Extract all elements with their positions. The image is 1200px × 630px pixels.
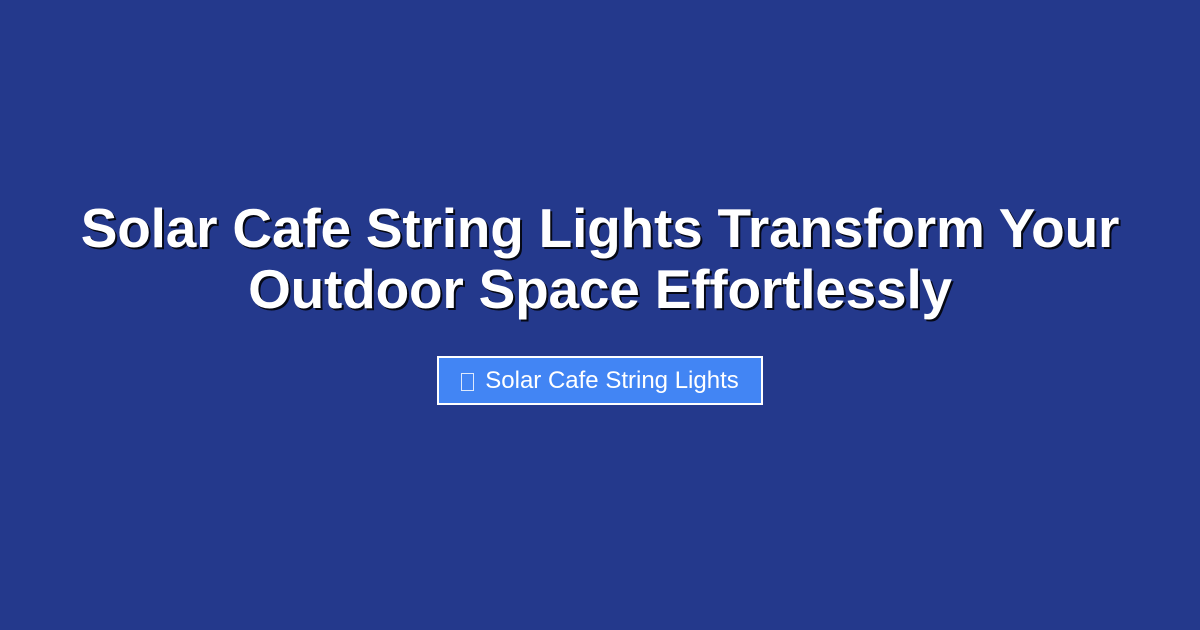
cta-container: Solar Cafe String Lights [0, 356, 1200, 405]
solar-cafe-string-lights-button[interactable]: Solar Cafe String Lights [437, 356, 762, 405]
cta-button-label: Solar Cafe String Lights [485, 369, 738, 393]
og-share-card: Solar Cafe String Lights Transform Your … [0, 0, 1200, 630]
page-title: Solar Cafe String Lights Transform Your … [70, 198, 1130, 319]
missing-glyph-box-icon [461, 373, 474, 391]
